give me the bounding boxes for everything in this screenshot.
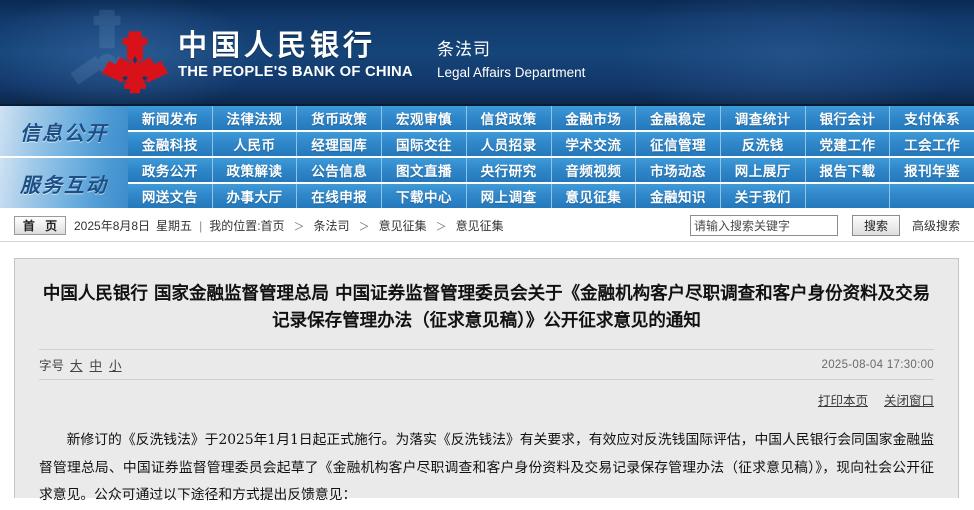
nav-item-service-hall[interactable]: 办事大厅: [213, 184, 298, 208]
nav-item-party-building[interactable]: 党建工作: [806, 132, 891, 156]
article-body-paragraph: 新修订的《反洗钱法》于2025年1月1日起正式施行。为落实《反洗钱法》有关要求，…: [39, 427, 934, 510]
breadcrumb-item-legal-affairs[interactable]: 条法司: [314, 217, 350, 234]
nav-side-label-service-interaction[interactable]: 服务互动: [0, 158, 128, 210]
home-button[interactable]: 首 页: [14, 216, 66, 235]
nav-item-international-exchange[interactable]: 国际交往: [382, 132, 467, 156]
nav-item-bank-accounting[interactable]: 银行会计: [806, 106, 891, 130]
nav-item-policy-interpretation[interactable]: 政策解读: [213, 158, 298, 182]
font-size-controls: 字号 大 中 小: [39, 355, 129, 374]
article-panel: 中国人民银行 国家金融监督管理总局 中国证券监督管理委员会关于《金融机构客户尽职…: [14, 258, 959, 498]
search-button[interactable]: 搜索: [852, 215, 900, 236]
nav-item-download-center[interactable]: 下载中心: [382, 184, 467, 208]
nav-item-central-bank-research[interactable]: 央行研究: [467, 158, 552, 182]
nav-item-academic-exchange[interactable]: 学术交流: [552, 132, 637, 156]
advanced-search-link[interactable]: 高级搜索: [912, 217, 960, 234]
nav-item-fintech[interactable]: 金融科技: [128, 132, 213, 156]
nav-item-online-survey[interactable]: 网上调查: [467, 184, 552, 208]
breadcrumb-arrow-icon: ＞: [436, 218, 447, 234]
breadcrumb-item-current: 意见征集: [456, 217, 504, 234]
font-size-label: 字号: [39, 355, 64, 374]
close-window-link[interactable]: 关闭窗口: [884, 390, 934, 409]
nav-item-live-broadcast[interactable]: 图文直播: [382, 158, 467, 182]
nav-item-online-documents[interactable]: 网送文告: [128, 184, 213, 208]
nav-item-financial-knowledge[interactable]: 金融知识: [636, 184, 721, 208]
font-size-small-link[interactable]: 小: [109, 355, 122, 374]
bank-name-chinese: 中国人民银行: [178, 30, 438, 61]
nav-item-macro-prudential[interactable]: 宏观审慎: [382, 106, 467, 130]
breadcrumb-arrow-icon: ＞: [294, 218, 305, 234]
bank-name-english: THE PEOPLE'S BANK OF CHINA: [178, 64, 443, 80]
department-name-chinese: 条法司: [437, 40, 585, 60]
nav-item-announcements[interactable]: 公告信息: [297, 158, 382, 182]
print-page-link[interactable]: 打印本页: [818, 390, 868, 409]
nav-item-rmb[interactable]: 人民币: [213, 132, 298, 156]
article-title: 中国人民银行 国家金融监督管理总局 中国证券监督管理委员会关于《金融机构客户尽职…: [39, 281, 934, 335]
breadcrumb-pipe-separator: |: [199, 219, 202, 233]
nav-item-credit-policy[interactable]: 信贷政策: [467, 106, 552, 130]
site-header-banner: 中国人民银行 THE PEOPLE'S BANK OF CHINA 条法司 Le…: [0, 0, 974, 106]
nav-group-information-disclosure: 信息公开 新闻发布 法律法规 货币政策 宏观审慎 信贷政策 金融市场 金融稳定 …: [0, 106, 974, 158]
nav-item-government-affairs[interactable]: 政务公开: [128, 158, 213, 182]
nav-item-market-dynamics[interactable]: 市场动态: [636, 158, 721, 182]
current-date: 2025年8月8日: [74, 217, 150, 234]
search-input[interactable]: [690, 215, 838, 236]
nav-item-financial-stability[interactable]: 金融稳定: [636, 106, 721, 130]
nav-item-credit-reference[interactable]: 征信管理: [636, 132, 721, 156]
nav-cell-empty: [890, 184, 974, 208]
nav-item-about-us[interactable]: 关于我们: [721, 184, 806, 208]
department-name-block: 条法司 Legal Affairs Department: [437, 40, 585, 80]
nav-item-online-declaration[interactable]: 在线申报: [297, 184, 382, 208]
current-weekday: 星期五: [156, 217, 192, 234]
article-meta-row: 字号 大 中 小 2025-08-04 17:30:00: [39, 349, 934, 380]
department-name-english: Legal Affairs Department: [437, 65, 585, 80]
nav-item-opinion-solicitation[interactable]: 意见征集: [552, 184, 637, 208]
nav-item-audio-video[interactable]: 音频视频: [552, 158, 637, 182]
nav-item-online-exhibition[interactable]: 网上展厅: [721, 158, 806, 182]
nav-item-payment-system[interactable]: 支付体系: [890, 106, 974, 130]
breadcrumb-location-label: 我的位置:: [209, 217, 260, 234]
nav-item-laws-regulations[interactable]: 法律法规: [213, 106, 298, 130]
nav-item-survey-statistics[interactable]: 调查统计: [721, 106, 806, 130]
nav-item-monetary-policy[interactable]: 货币政策: [297, 106, 382, 130]
nav-rows-information-disclosure: 新闻发布 法律法规 货币政策 宏观审慎 信贷政策 金融市场 金融稳定 调查统计 …: [128, 106, 974, 158]
bank-name-block: 中国人民银行 THE PEOPLE'S BANK OF CHINA: [178, 30, 438, 80]
nav-item-report-download[interactable]: 报告下载: [806, 158, 891, 182]
pboc-emblem-icon: [98, 27, 172, 99]
nav-item-union-work[interactable]: 工会工作: [890, 132, 974, 156]
main-navigation: 信息公开 新闻发布 法律法规 货币政策 宏观审慎 信贷政策 金融市场 金融稳定 …: [0, 106, 974, 210]
font-size-large-link[interactable]: 大: [70, 355, 83, 374]
nav-item-financial-market[interactable]: 金融市场: [552, 106, 637, 130]
breadcrumb-arrow-icon: ＞: [359, 218, 370, 234]
breadcrumb-item-opinion-solicitation[interactable]: 意见征集: [379, 217, 427, 234]
publish-timestamp: 2025-08-04 17:30:00: [822, 359, 935, 371]
article-action-row: 打印本页 关闭窗口: [39, 390, 934, 409]
nav-row: 政务公开 政策解读 公告信息 图文直播 央行研究 音频视频 市场动态 网上展厅 …: [128, 158, 974, 184]
breadcrumb-item-home[interactable]: 首页: [261, 217, 285, 234]
nav-row: 网送文告 办事大厅 在线申报 下载中心 网上调查 意见征集 金融知识 关于我们: [128, 184, 974, 210]
nav-item-periodicals-yearbook[interactable]: 报刊年鉴: [890, 158, 974, 182]
nav-row: 新闻发布 法律法规 货币政策 宏观审慎 信贷政策 金融市场 金融稳定 调查统计 …: [128, 106, 974, 132]
nav-group-service-interaction: 服务互动 政务公开 政策解读 公告信息 图文直播 央行研究 音频视频 市场动态 …: [0, 158, 974, 210]
nav-rows-service-interaction: 政务公开 政策解读 公告信息 图文直播 央行研究 音频视频 市场动态 网上展厅 …: [128, 158, 974, 210]
breadcrumb-bar: 首 页 2025年8月8日 星期五 | 我的位置: 首页 ＞ 条法司 ＞ 意见征…: [0, 210, 974, 242]
search-area: 搜索 高级搜索: [690, 215, 960, 236]
nav-item-treasury-management[interactable]: 经理国库: [297, 132, 382, 156]
nav-side-label-information-disclosure[interactable]: 信息公开: [0, 106, 128, 158]
nav-item-news-release[interactable]: 新闻发布: [128, 106, 213, 130]
nav-item-recruitment[interactable]: 人员招录: [467, 132, 552, 156]
nav-row: 金融科技 人民币 经理国库 国际交往 人员招录 学术交流 征信管理 反洗钱 党建…: [128, 132, 974, 158]
nav-cell-empty: [806, 184, 891, 208]
font-size-medium-link[interactable]: 中: [90, 355, 103, 374]
nav-item-anti-money-laundering[interactable]: 反洗钱: [721, 132, 806, 156]
